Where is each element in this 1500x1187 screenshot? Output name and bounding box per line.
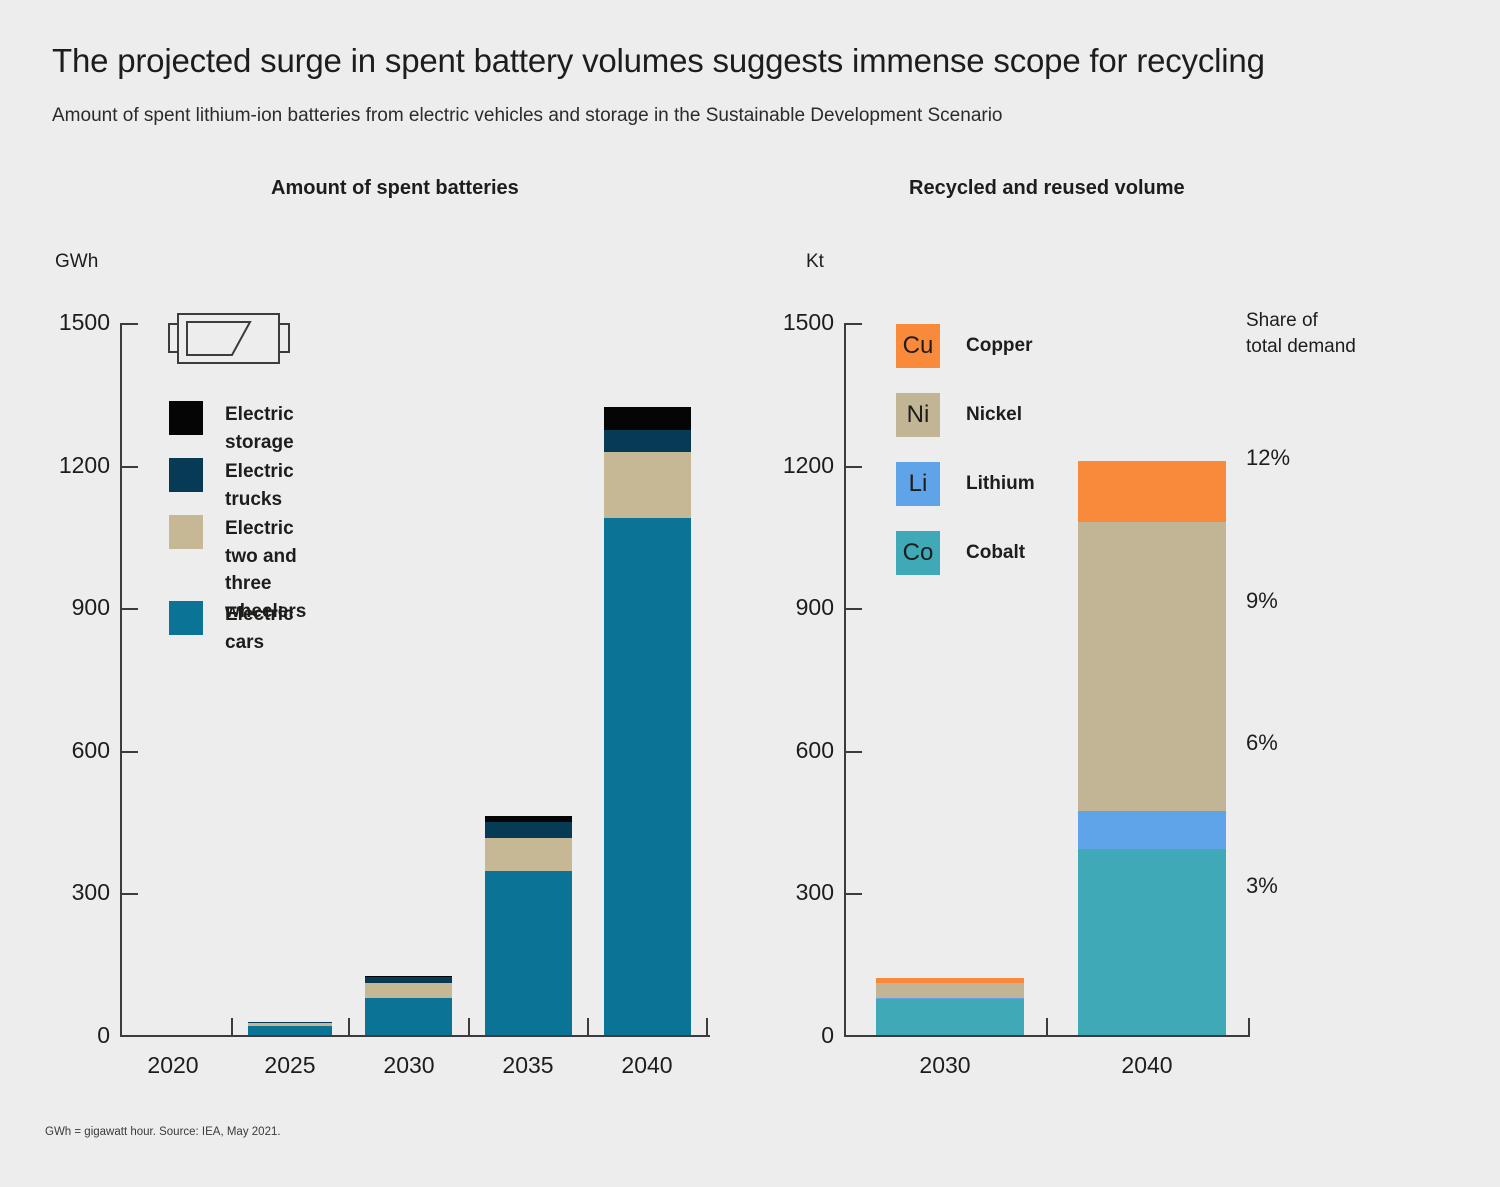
element-symbol-cu: Cu (903, 332, 934, 360)
bar-2030-recycled[interactable] (876, 978, 1024, 1035)
share-tick-label-9pct: 9% (1246, 588, 1278, 614)
y-tick-1200 (846, 466, 862, 468)
legend-swatch-nickel: Ni (896, 393, 940, 437)
legend-swatch-copper: Cu (896, 324, 940, 368)
element-symbol-ni: Ni (907, 401, 930, 429)
legend-swatch-lithium: Li (896, 462, 940, 506)
legend-item-lithium[interactable]: Li Lithium (896, 462, 1035, 506)
footnote-source: GWh = gigawatt hour. Source: IEA, May 20… (45, 1126, 281, 1138)
share-tick-label-12pct: 12% (1246, 445, 1290, 471)
x-tick-label-2030: 2030 (887, 1052, 1003, 1079)
legend-label-lithium: Lithium (966, 462, 1035, 506)
chart-recycled-reused: Cu Copper Ni Nickel Li Lithium Co Cobalt… (0, 0, 1500, 1187)
legend-swatch-cobalt: Co (896, 531, 940, 575)
bar-segment-cobalt (1078, 849, 1226, 1035)
y-tick-600 (846, 751, 862, 753)
chart-page: The projected surge in spent battery vol… (0, 0, 1500, 1187)
y-tick-label-600: 600 (734, 737, 834, 764)
legend-item-nickel[interactable]: Ni Nickel (896, 393, 1022, 437)
y-tick-label-1200: 1200 (734, 452, 834, 479)
bar-segment-nickel (876, 983, 1024, 998)
bar-segment-cobalt (876, 999, 1024, 1035)
x-divider-tick (1248, 1018, 1250, 1035)
element-symbol-li: Li (909, 470, 928, 498)
legend-label-copper: Copper (966, 324, 1033, 368)
y-tick-label-0: 0 (734, 1022, 834, 1049)
x-tick-label-2040: 2040 (1089, 1052, 1205, 1079)
share-of-total-demand-caption: Share of total demand (1246, 308, 1356, 359)
legend-item-cobalt[interactable]: Co Cobalt (896, 531, 1025, 575)
share-tick-label-3pct: 3% (1246, 873, 1278, 899)
y-tick-300 (846, 893, 862, 895)
y-tick-label-300: 300 (734, 879, 834, 906)
bar-segment-lithium (1078, 811, 1226, 849)
x-axis-right (844, 1035, 1250, 1037)
legend-item-copper[interactable]: Cu Copper (896, 324, 1033, 368)
y-tick-900 (846, 608, 862, 610)
bar-segment-copper (1078, 461, 1226, 522)
bar-segment-nickel (1078, 522, 1226, 811)
y-axis-right (844, 323, 846, 1037)
y-tick-label-1500: 1500 (734, 309, 834, 336)
legend-label-nickel: Nickel (966, 393, 1022, 437)
share-tick-label-6pct: 6% (1246, 730, 1278, 756)
y-tick-label-900: 900 (734, 594, 834, 621)
y-tick-1500 (846, 323, 862, 325)
element-symbol-co: Co (903, 539, 934, 567)
x-divider-tick (1046, 1018, 1048, 1035)
bar-2040-recycled[interactable] (1078, 461, 1226, 1035)
legend-label-cobalt: Cobalt (966, 531, 1025, 575)
